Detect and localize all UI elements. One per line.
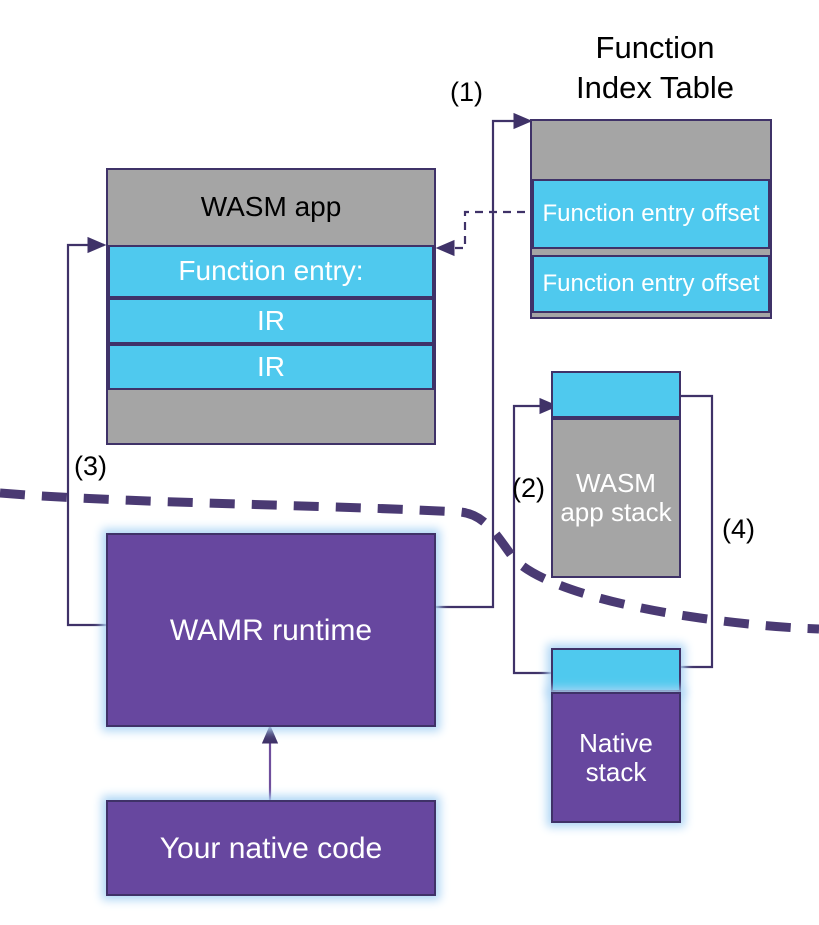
function-index-table-title: Function Index Table	[530, 28, 780, 109]
fit-row-entry-1-label: Function entry offset	[536, 201, 765, 227]
wamr-runtime-label: WAMR runtime	[170, 614, 372, 647]
fit-row-entry-2-label: Function entry offset	[536, 271, 765, 297]
fit-row-entry-1[interactable]: Function entry offset	[532, 179, 770, 249]
wasm-app-function-entry-label: Function entry:	[178, 256, 363, 287]
wasm-app-row-title: WASM app	[108, 170, 434, 245]
wasm-app-stack-body: WASM app stack	[551, 418, 681, 578]
native-stack-label: Native stack	[579, 729, 653, 786]
your-native-code-box[interactable]: Your native code	[106, 800, 436, 896]
wasm-app-row-function-entry[interactable]: Function entry:	[108, 245, 434, 298]
native-stack-body: Native stack	[551, 692, 681, 823]
fit-row-header	[532, 121, 770, 179]
wasm-app-box: WASM app Function entry: IR IR	[106, 168, 436, 445]
your-native-code-label: Your native code	[160, 832, 382, 865]
native-stack-top-band[interactable]	[551, 648, 681, 692]
connector-step-3	[68, 245, 107, 625]
diagram-canvas: Function Index Table Function entry offs…	[0, 0, 819, 925]
function-index-table: Function entry offset Function entry off…	[530, 119, 772, 319]
step-label-3: (3)	[74, 453, 107, 480]
wasm-app-row-ir-1[interactable]: IR	[108, 298, 434, 344]
wasm-app-ir-2-label: IR	[257, 352, 285, 383]
native-stack-box: Native stack	[551, 648, 681, 823]
step-label-4: (4)	[722, 516, 755, 543]
wasm-app-ir-1-label: IR	[257, 306, 285, 337]
wasm-app-stack-box: WASM app stack	[551, 371, 681, 578]
wasm-app-stack-label: WASM app stack	[560, 469, 671, 526]
wasm-app-row-ir-2[interactable]: IR	[108, 344, 434, 390]
step-label-2: (2)	[512, 475, 545, 502]
wasm-app-stack-top-band[interactable]	[551, 371, 681, 418]
wamr-runtime-box[interactable]: WAMR runtime	[106, 533, 436, 727]
wasm-app-title-label: WASM app	[201, 192, 342, 223]
fit-row-entry-2[interactable]: Function entry offset	[532, 255, 770, 313]
step-label-1: (1)	[450, 79, 483, 106]
wasm-app-row-footer	[108, 390, 434, 443]
